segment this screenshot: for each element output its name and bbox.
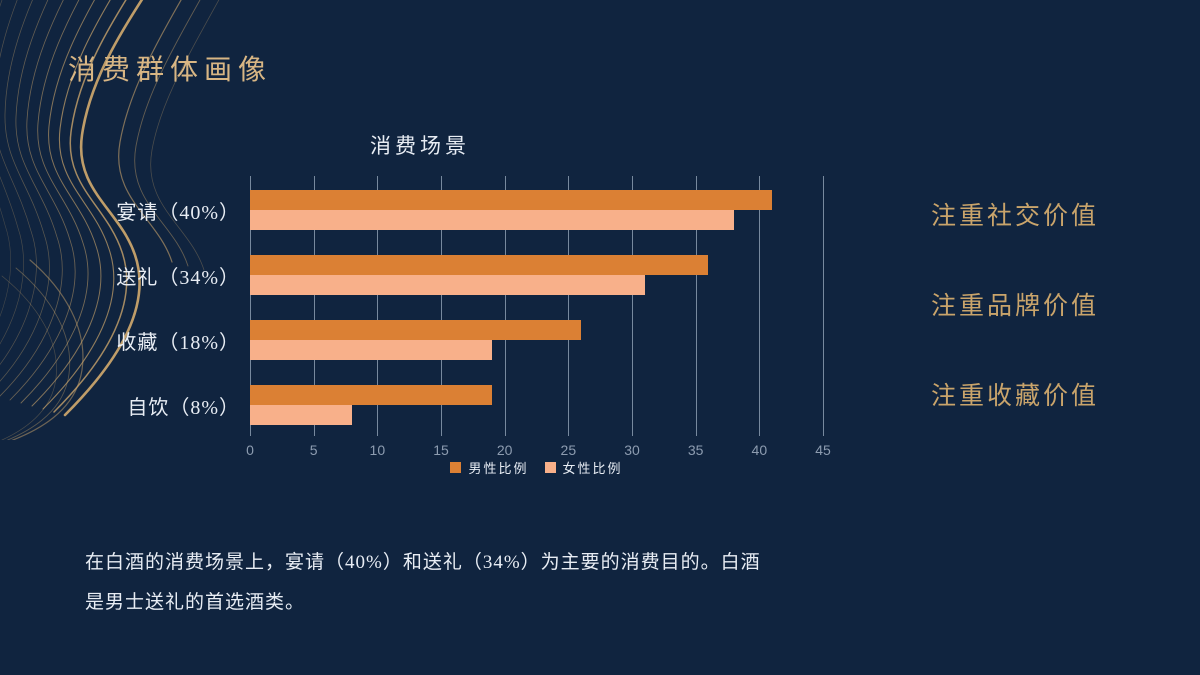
body-paragraph: 在白酒的消费场景上，宴请（40%）和送礼（34%）为主要的消费目的。白酒是男士送… [85, 543, 775, 623]
category-label: 收藏（18%） [116, 326, 240, 355]
annotation-text: 注重社交价值 [900, 196, 1130, 232]
chart-title: 消费场景 [40, 130, 800, 160]
legend-item[interactable]: 女性比例 [545, 458, 623, 477]
x-axis-tick-label: 20 [497, 442, 513, 458]
chart-bar [250, 340, 492, 360]
chart-bar [250, 405, 352, 425]
x-axis-tick-label: 30 [624, 442, 640, 458]
category-label: 送礼（34%） [116, 261, 240, 290]
x-axis-tick-label: 35 [688, 442, 704, 458]
category-label: 宴请（40%） [116, 196, 240, 225]
chart-bar [250, 320, 581, 340]
x-axis-tick-label: 5 [310, 442, 318, 458]
page-title: 消费群体画像 [68, 48, 272, 88]
x-axis-tick-label: 10 [370, 442, 386, 458]
legend-item[interactable]: 男性比例 [450, 458, 528, 477]
x-axis-tick-label: 45 [815, 442, 831, 458]
gridline [823, 176, 824, 436]
annotation-text: 注重收藏价值 [900, 376, 1130, 412]
chart-bar [250, 190, 772, 210]
x-axis-tick-label: 15 [433, 442, 449, 458]
gridline [759, 176, 760, 436]
annotation-text: 注重品牌价值 [900, 286, 1130, 322]
chart-bar [250, 385, 492, 405]
chart-legend: 男性比例女性比例 [250, 458, 823, 477]
chart-bar [250, 210, 734, 230]
legend-swatch-icon [450, 462, 461, 473]
x-axis-tick-label: 25 [561, 442, 577, 458]
chart-bar [250, 275, 645, 295]
presentation-slide: 消费群体画像 消费场景 051015202530354045宴请（40%）送礼（… [0, 0, 1200, 675]
consumption-scenario-chart: 消费场景 051015202530354045宴请（40%）送礼（34%）收藏（… [40, 118, 870, 508]
annotation-list: 注重社交价值注重品牌价值注重收藏价值 [900, 196, 1130, 412]
x-axis-tick-label: 40 [752, 442, 768, 458]
legend-label: 男性比例 [468, 458, 528, 477]
legend-swatch-icon [545, 462, 556, 473]
legend-label: 女性比例 [563, 458, 623, 477]
chart-bar [250, 255, 708, 275]
x-axis-tick-label: 0 [246, 442, 254, 458]
category-label: 自饮（8%） [127, 391, 240, 420]
chart-plot-area: 051015202530354045宴请（40%）送礼（34%）收藏（18%）自… [250, 176, 823, 436]
